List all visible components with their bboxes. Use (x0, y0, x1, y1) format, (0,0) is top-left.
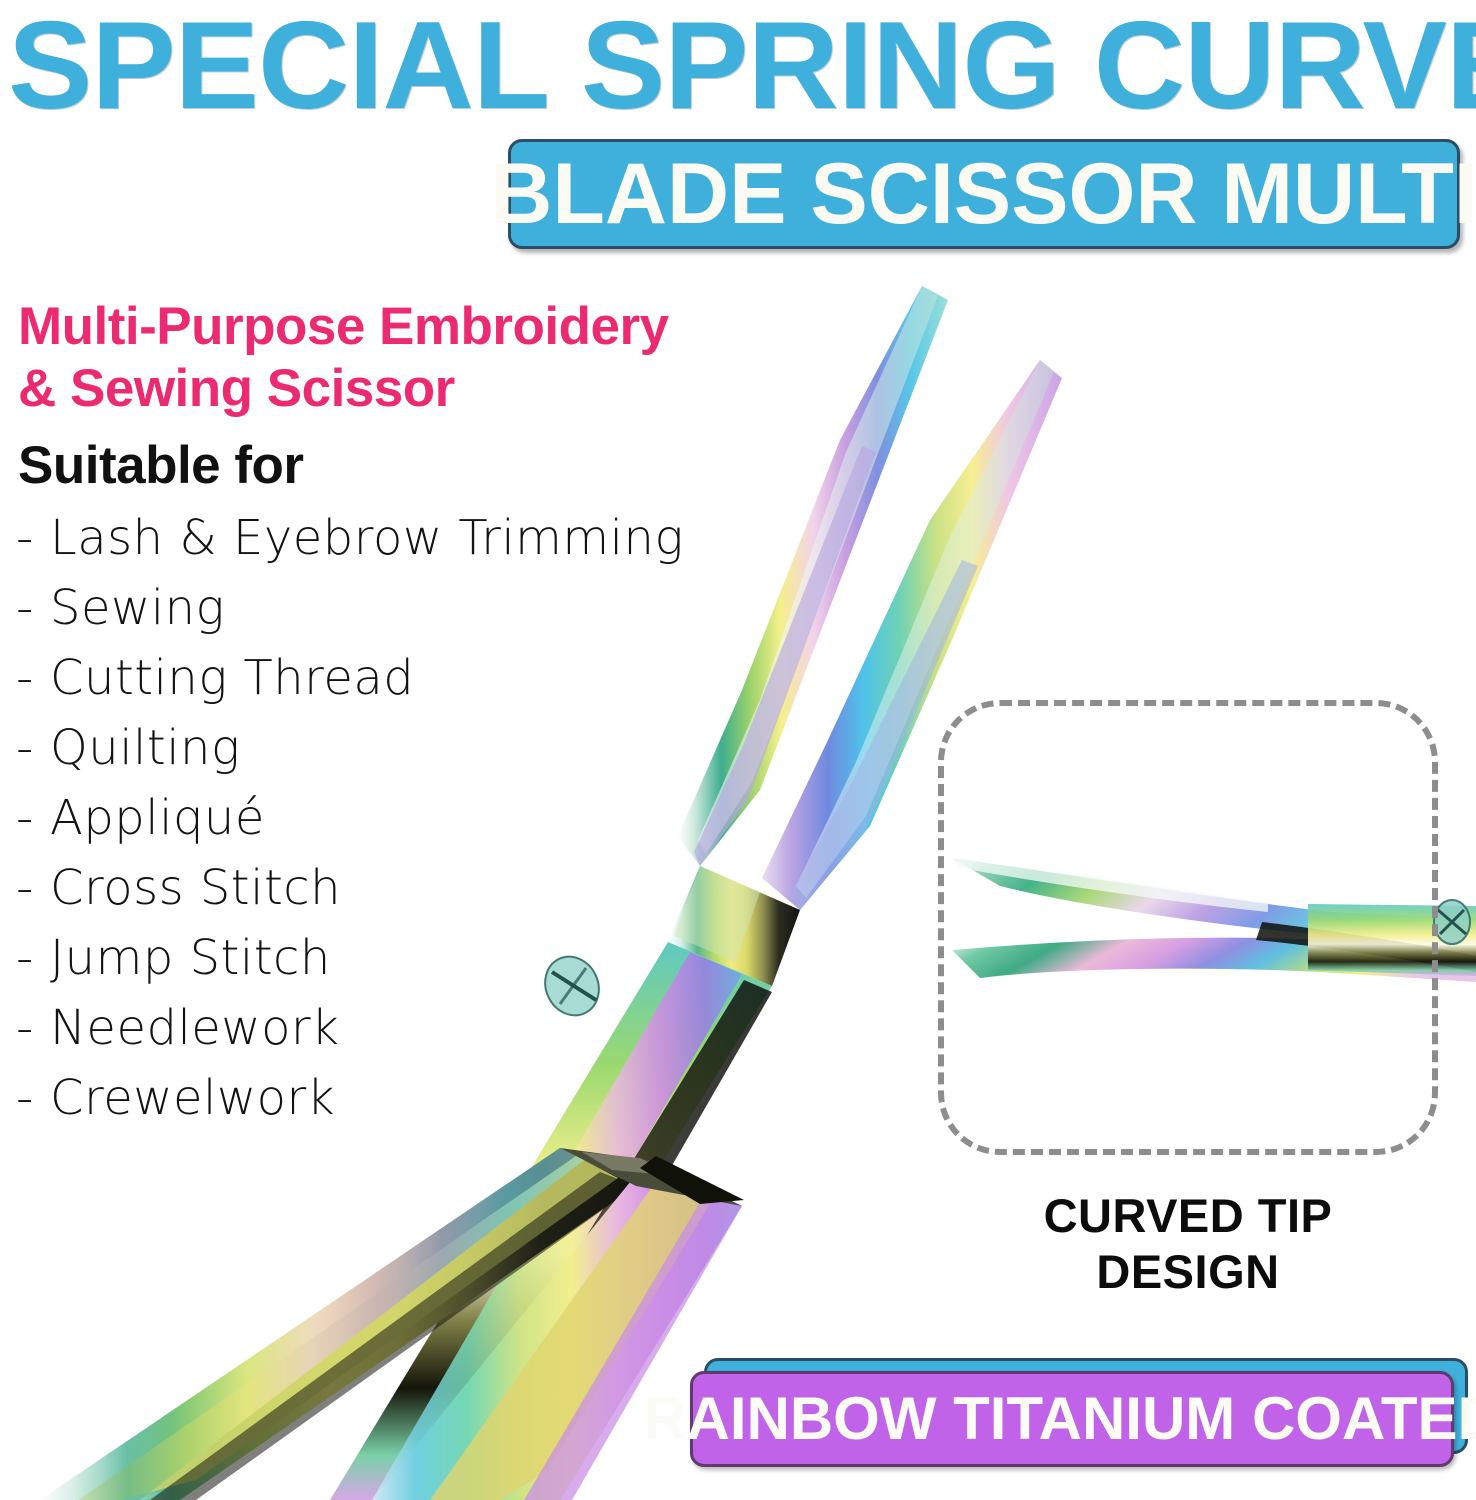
list-item: - Needlework (16, 993, 736, 1063)
list-item: - Appliqué (16, 783, 736, 853)
list-item-label: Sewing (50, 573, 225, 643)
headline-secondary: BLADE SCISSOR MULTI (511, 142, 1457, 246)
product-infographic: SPECIAL SPRING CURVED BLADE SCISSOR MULT… (0, 0, 1476, 1500)
curved-tip-callout-box (938, 700, 1438, 1155)
dash-icon: - (16, 783, 50, 853)
product-subheading: Multi-Purpose Embroidery & Sewing Scisso… (18, 296, 748, 420)
list-item: - Sewing (16, 573, 736, 643)
dash-icon: - (16, 923, 50, 993)
headline-primary: SPECIAL SPRING CURVED (8, 2, 1476, 130)
list-item: - Lash & Eyebrow Trimming (16, 503, 736, 573)
dash-icon: - (16, 713, 50, 783)
product-subheading-line2: & Sewing Scissor (18, 358, 748, 420)
list-item: - Crewelwork (16, 1063, 736, 1133)
list-item-label: Appliqué (50, 783, 265, 853)
product-subheading-line1: Multi-Purpose Embroidery (18, 296, 748, 358)
dash-icon: - (16, 573, 50, 643)
curved-tip-caption-line1: CURVED TIP (938, 1188, 1438, 1244)
headline-badge: BLADE SCISSOR MULTI (508, 139, 1460, 249)
curved-tip-caption: CURVED TIP DESIGN (938, 1188, 1438, 1300)
dash-icon: - (16, 643, 50, 713)
dash-icon: - (16, 993, 50, 1063)
list-item: - Quilting (16, 713, 736, 783)
list-item-label: Cutting Thread (50, 643, 414, 713)
scissor-spring-apex (560, 1148, 744, 1206)
pivot-screw-closeup-icon (1434, 900, 1470, 944)
list-item-label: Lash & Eyebrow Trimming (50, 503, 684, 573)
scissor-handle-left (40, 1148, 636, 1500)
list-item-label: Crewelwork (50, 1063, 335, 1133)
list-item: - Jump Stitch (16, 923, 736, 993)
dash-icon: - (16, 503, 50, 573)
curved-tip-caption-line2: DESIGN (938, 1244, 1438, 1300)
suitable-for-heading: Suitable for (18, 437, 304, 495)
use-case-list: - Lash & Eyebrow Trimming - Sewing - Cut… (16, 503, 736, 1133)
list-item: - Cross Stitch (16, 853, 736, 923)
rainbow-coating-banner: RAINBOW TITANIUM COATED (690, 1371, 1454, 1467)
list-item-label: Jump Stitch (50, 923, 331, 993)
rainbow-coating-banner-label: RAINBOW TITANIUM COATED (643, 1389, 1476, 1449)
dash-icon: - (16, 1063, 50, 1133)
list-item-label: Quilting (50, 713, 240, 783)
list-item-label: Cross Stitch (50, 853, 341, 923)
list-item-label: Needlework (50, 993, 339, 1063)
dash-icon: - (16, 853, 50, 923)
list-item: - Cutting Thread (16, 643, 736, 713)
